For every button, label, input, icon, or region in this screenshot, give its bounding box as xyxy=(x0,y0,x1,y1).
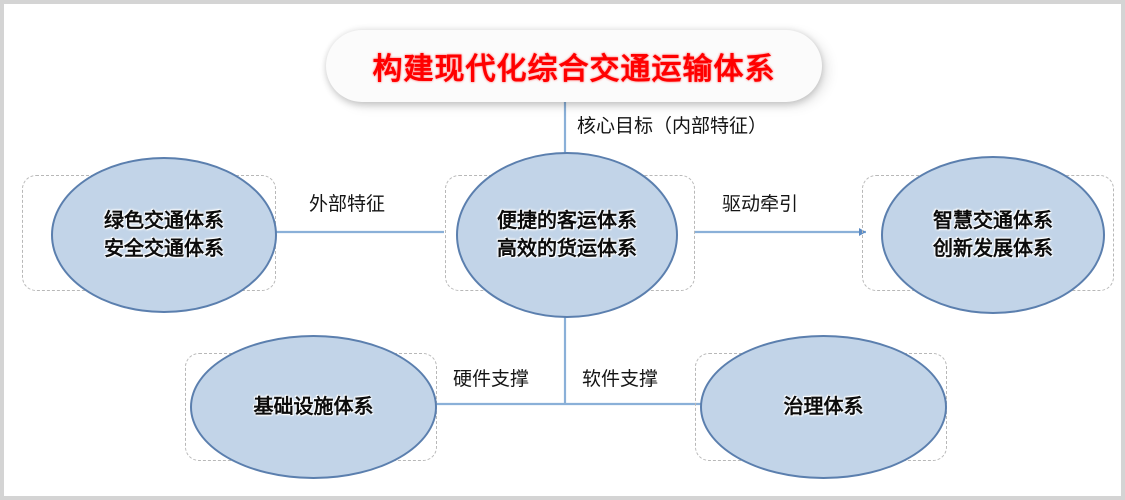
node-left[interactable]: 绿色交通体系 安全交通体系 xyxy=(51,157,277,313)
node-bottom-left-line1: 基础设施体系 xyxy=(254,393,374,421)
diagram-canvas: 构建现代化综合交通运输体系 绿色交通体系 安全交通体系 便捷的客运体系 高效的货… xyxy=(0,0,1125,500)
node-right[interactable]: 智慧交通体系 创新发展体系 xyxy=(881,156,1105,314)
node-center-line1: 便捷的客运体系 xyxy=(497,207,637,235)
diagram-title-pill: 构建现代化综合交通运输体系 xyxy=(326,30,822,102)
node-bottom-left[interactable]: 基础设施体系 xyxy=(190,335,437,479)
node-bottom-right-line1: 治理体系 xyxy=(784,393,864,421)
node-center-line2: 高效的货运体系 xyxy=(497,235,637,263)
node-left-line2: 安全交通体系 xyxy=(104,235,224,263)
edge-label-hardware: 硬件支撑 xyxy=(453,364,529,391)
node-right-line1: 智慧交通体系 xyxy=(933,207,1053,235)
edge-label-external: 外部特征 xyxy=(309,189,385,216)
edge-label-drive-traction: 驱动牵引 xyxy=(722,189,798,216)
page-title: 构建现代化综合交通运输体系 xyxy=(373,44,776,88)
node-left-line1: 绿色交通体系 xyxy=(104,207,224,235)
edge-label-software: 软件支撑 xyxy=(582,364,658,391)
node-right-line2: 创新发展体系 xyxy=(933,235,1053,263)
edge-label-core-goal: 核心目标（内部特征） xyxy=(577,111,767,138)
node-center[interactable]: 便捷的客运体系 高效的货运体系 xyxy=(456,152,678,318)
node-bottom-right[interactable]: 治理体系 xyxy=(700,335,947,479)
